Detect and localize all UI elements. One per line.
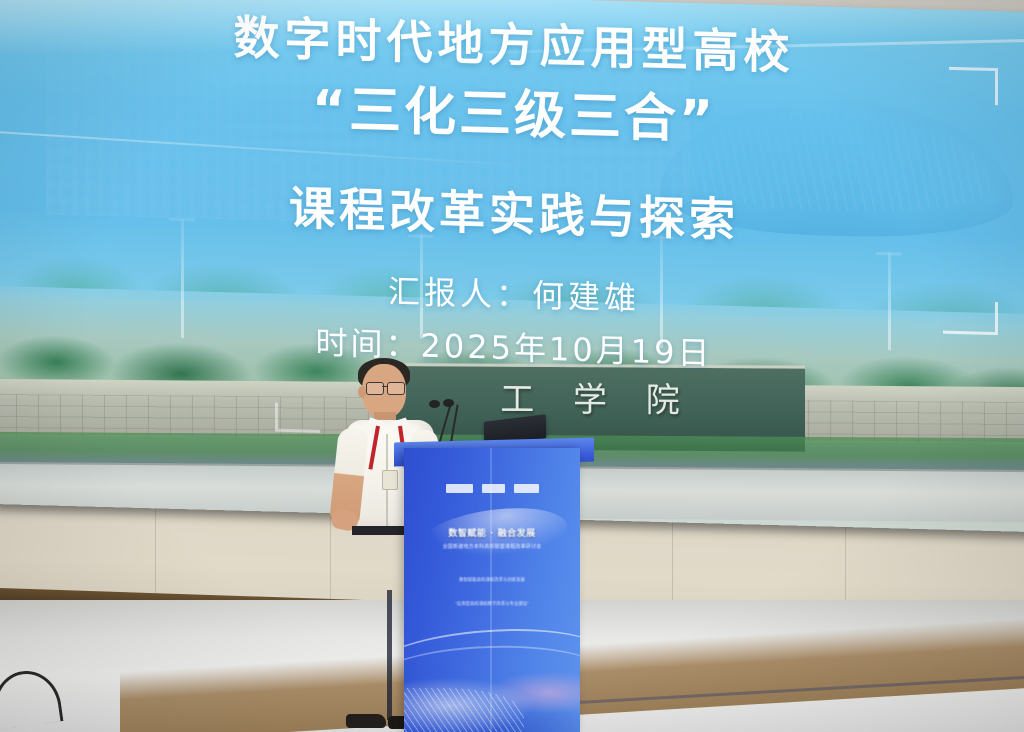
speaker-shoe	[346, 714, 386, 728]
podium-subline-3: “应用型高校课程教学改革与专业建设”	[404, 600, 580, 607]
slide-title-line-2: “三化三级三合”	[0, 72, 1024, 158]
sponsor-logo-icon	[514, 484, 539, 493]
presentation-photo: 工 学 院 数字时代地方应用型高校 “三化三级三合” 课程改革实践与探索 汇报人…	[0, 0, 1024, 732]
podium-subline-1: 全国新建地方本科高校联盟课程改革研讨会	[404, 544, 580, 552]
podium-logo-row	[404, 484, 580, 493]
trouser-seam	[387, 590, 392, 720]
podium: 数智赋能 · 融合发展 全国新建地方本科高校联盟课程改革研讨会 数智赋能高校课程…	[404, 448, 580, 732]
podium-headline: 数智赋能 · 融合发展	[404, 526, 580, 539]
glasses-icon	[366, 382, 406, 393]
slide-title-line-3: 课程改革实践与探索	[0, 164, 1024, 258]
slide-title-line-1: 数字时代地方应用型高校	[0, 6, 1024, 85]
podium-subline-2: 数智赋能高校课程改革与创新发展	[404, 576, 580, 583]
sponsor-logo-icon	[482, 484, 505, 493]
floor-cable	[0, 667, 63, 731]
podium-wave-graphic	[404, 630, 580, 732]
speaker-ear	[358, 386, 366, 398]
sponsor-logo-icon	[446, 484, 473, 493]
id-badge	[382, 470, 398, 490]
podium-corner-edge	[490, 448, 492, 732]
